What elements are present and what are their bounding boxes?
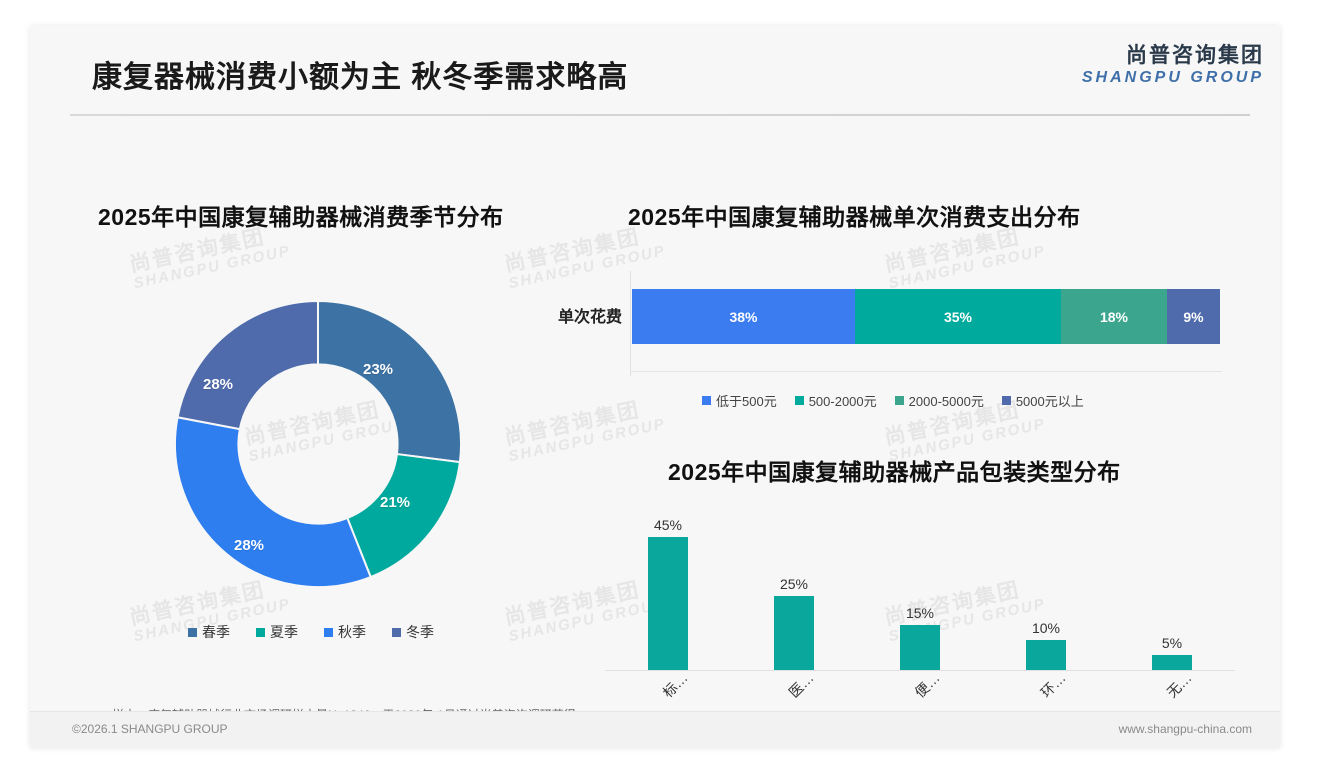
slide: 康复器械消费小额为主 秋冬季需求略高 尚普咨询集团 SHANGPU GROUP … — [30, 26, 1280, 748]
column-bars-group: 45% 25% 15% 10% 5% — [605, 518, 1235, 670]
stack-segment-500-2000[interactable]: 35% — [855, 289, 1061, 344]
stack-segment-over-5000[interactable]: 9% — [1167, 289, 1220, 344]
donut-slice-spring[interactable] — [318, 301, 461, 462]
column-bar-3[interactable] — [900, 625, 940, 670]
watermark: 尚普咨询集团 SHANGPU GROUP — [503, 395, 668, 466]
legend-label: 2000-5000元 — [909, 391, 984, 410]
legend-item-spring[interactable]: 春季 — [188, 622, 230, 642]
column-value-2: 25% — [780, 576, 808, 592]
page-title: 康复器械消费小额为主 秋冬季需求略高 — [92, 52, 628, 96]
logo-chinese-text: 尚普咨询集团 — [1082, 44, 1264, 68]
stacked-bar-row: 38% 35% 18% 9% — [632, 289, 1220, 344]
legend-label: 冬季 — [406, 622, 434, 642]
x-label-cell: 医… — [731, 674, 857, 716]
column-bar-2[interactable] — [774, 596, 814, 670]
column-value-1: 45% — [654, 517, 682, 533]
watermark-line-1: 尚普咨询集团 — [503, 395, 664, 449]
legend-label: 5000元以上 — [1016, 391, 1084, 410]
legend-item-winter[interactable]: 冬季 — [392, 622, 434, 642]
donut-slice-winter[interactable] — [178, 301, 318, 429]
x-label-cell: 环… — [983, 674, 1109, 716]
season-donut-chart: 23% 21% 28% 28% — [148, 294, 488, 594]
legend-label: 低于500元 — [716, 391, 777, 410]
column-cell: 15% — [857, 518, 983, 670]
legend-item-over-5000[interactable]: 5000元以上 — [1002, 391, 1084, 410]
donut-value-autumn: 28% — [234, 537, 264, 554]
slide-header: 康复器械消费小额为主 秋冬季需求略高 尚普咨询集团 SHANGPU GROUP — [30, 26, 1280, 120]
donut-svg — [148, 294, 488, 594]
logo-english-text: SHANGPU GROUP — [1082, 68, 1264, 87]
x-axis-label-1: 标… — [658, 668, 692, 702]
legend-swatch-icon — [795, 396, 804, 405]
brand-logo: 尚普咨询集团 SHANGPU GROUP — [1082, 44, 1264, 87]
legend-swatch-icon — [392, 628, 401, 637]
slide-footer: ©2026.1 SHANGPU GROUP www.shangpu-china.… — [30, 711, 1280, 748]
legend-label: 夏季 — [270, 622, 298, 642]
column-cell: 10% — [983, 518, 1109, 670]
donut-value-winter: 28% — [203, 376, 233, 393]
column-bar-5[interactable] — [1152, 655, 1192, 670]
x-axis-label-5: 无… — [1162, 668, 1196, 702]
column-axis-labels: 标… 医… 便… 环… 无… — [605, 674, 1235, 716]
column-cell: 45% — [605, 518, 731, 670]
website-link[interactable]: www.shangpu-china.com — [1119, 722, 1252, 736]
legend-swatch-icon — [324, 628, 333, 637]
x-label-cell: 标… — [605, 674, 731, 716]
column-cell: 25% — [731, 518, 857, 670]
legend-label: 500-2000元 — [809, 391, 877, 410]
donut-value-spring: 23% — [363, 361, 393, 378]
spend-stacked-bar-chart: 单次花费 38% 35% 18% 9% — [630, 271, 1222, 381]
x-axis-label-4: 环… — [1036, 668, 1070, 702]
legend-item-autumn[interactable]: 秋季 — [324, 622, 366, 642]
x-label-cell: 无… — [1109, 674, 1235, 716]
package-column-chart: 45% 25% 15% 10% 5% 标… — [605, 506, 1235, 671]
legend-label: 秋季 — [338, 622, 366, 642]
column-value-5: 5% — [1162, 635, 1182, 651]
legend-label: 春季 — [202, 622, 230, 642]
package-chart-title: 2025年中国康复辅助器械产品包装类型分布 — [668, 453, 1121, 487]
legend-item-500-2000[interactable]: 500-2000元 — [795, 391, 877, 410]
donut-slice-autumn[interactable] — [175, 417, 371, 587]
watermark-line-2: SHANGPU GROUP — [132, 242, 292, 293]
x-axis-label-3: 便… — [910, 668, 944, 702]
spend-legend: 低于500元 500-2000元 2000-5000元 5000元以上 — [702, 391, 1084, 410]
legend-swatch-icon — [1002, 396, 1011, 405]
spend-chart-title: 2025年中国康复辅助器械单次消费支出分布 — [628, 198, 1081, 232]
chart-axis-line — [630, 271, 631, 376]
season-legend: 春季 夏季 秋季 冬季 — [188, 622, 434, 642]
stack-segment-2000-5000[interactable]: 18% — [1061, 289, 1167, 344]
column-value-3: 15% — [906, 605, 934, 621]
season-chart-title: 2025年中国康复辅助器械消费季节分布 — [98, 198, 504, 232]
column-bar-4[interactable] — [1026, 640, 1066, 670]
legend-swatch-icon — [188, 628, 197, 637]
legend-item-summer[interactable]: 夏季 — [256, 622, 298, 642]
chart-baseline — [630, 371, 1222, 372]
column-value-4: 10% — [1032, 620, 1060, 636]
chart-baseline — [605, 670, 1235, 671]
stack-segment-under-500[interactable]: 38% — [632, 289, 855, 344]
x-axis-label-2: 医… — [784, 668, 818, 702]
legend-swatch-icon — [256, 628, 265, 637]
copyright-text: ©2026.1 SHANGPU GROUP — [72, 722, 228, 736]
stacked-bar-category-label: 单次花费 — [530, 303, 622, 327]
watermark: 尚普咨询集团 SHANGPU GROUP — [128, 222, 293, 293]
x-label-cell: 便… — [857, 674, 983, 716]
legend-item-2000-5000[interactable]: 2000-5000元 — [895, 391, 984, 410]
watermark-line-2: SHANGPU GROUP — [507, 415, 667, 466]
legend-item-under-500[interactable]: 低于500元 — [702, 391, 777, 410]
legend-swatch-icon — [895, 396, 904, 405]
header-divider — [70, 114, 1250, 116]
legend-swatch-icon — [702, 396, 711, 405]
donut-value-summer: 21% — [380, 494, 410, 511]
column-cell: 5% — [1109, 518, 1235, 670]
column-bar-1[interactable] — [648, 537, 688, 670]
